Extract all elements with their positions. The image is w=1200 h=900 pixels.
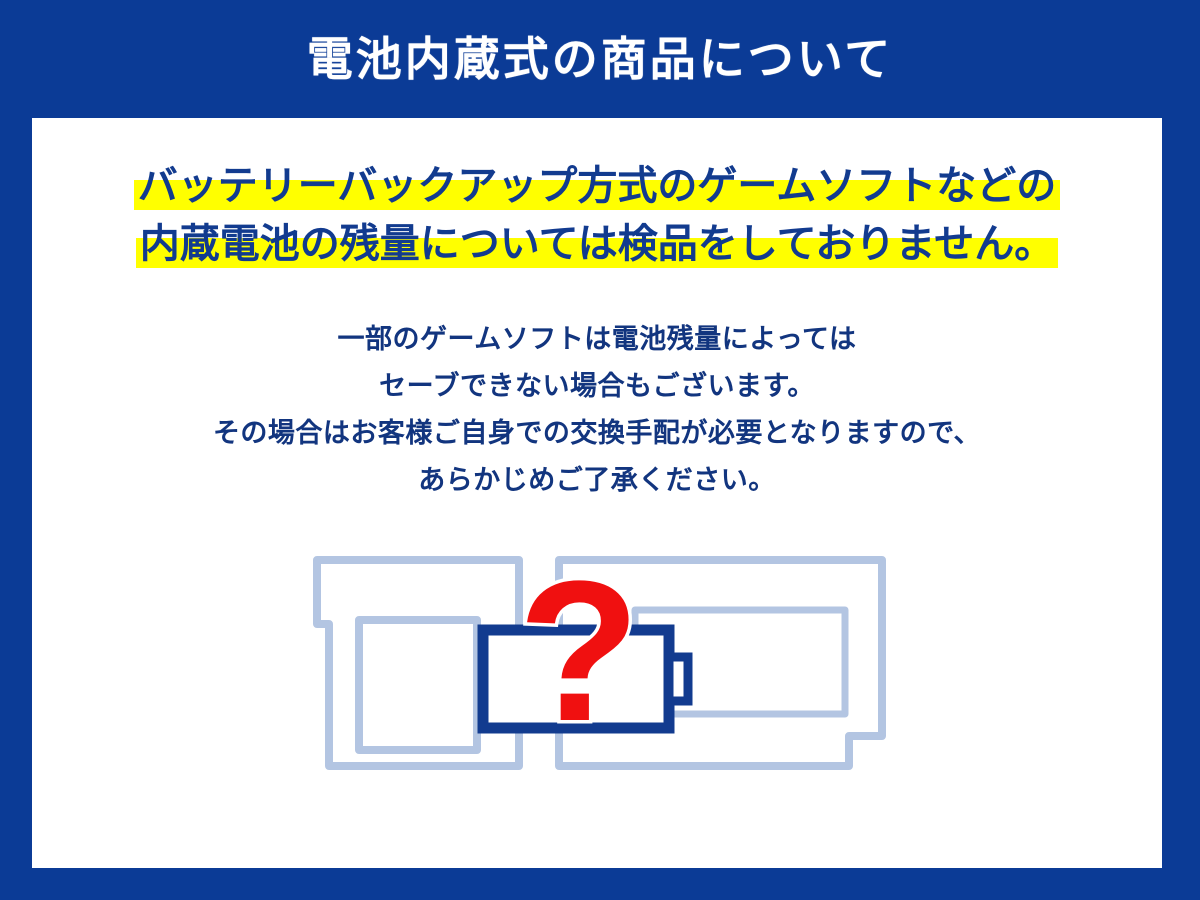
- question-mark-glyph: ?: [518, 540, 640, 763]
- body-line: 一部のゲームソフトは電池残量によっては: [32, 316, 1162, 363]
- header-banner: 電池内蔵式の商品について: [0, 0, 1200, 118]
- page-title: 電池内蔵式の商品について: [307, 36, 894, 82]
- lead-line-text: バッテリーバックアップ方式のゲームソフトなどの: [138, 164, 1056, 208]
- lead-line: バッテリーバックアップ方式のゲームソフトなどの: [134, 166, 1060, 206]
- body-line: セーブできない場合もございます。: [32, 363, 1162, 410]
- lead-line-text: 内蔵電池の残量については検品をしておりません。: [140, 222, 1054, 266]
- body-line: あらかじめご了承ください。: [32, 457, 1162, 504]
- question-mark-icon: ?: [518, 540, 640, 763]
- illustration-svg: ?: [287, 538, 907, 778]
- body-line: その場合はお客様ご自身での交換手配が必要となりますので、: [32, 410, 1162, 457]
- slide-root: 電池内蔵式の商品について バッテリーバックアップ方式のゲームソフトなどの 内蔵電…: [0, 0, 1200, 900]
- body-paragraph: 一部のゲームソフトは電池残量によっては セーブできない場合もございます。 その場…: [32, 316, 1162, 504]
- illustration: ?: [32, 538, 1162, 788]
- content-card: バッテリーバックアップ方式のゲームソフトなどの 内蔵電池の残量については検品をし…: [32, 118, 1162, 868]
- lead-block: バッテリーバックアップ方式のゲームソフトなどの 内蔵電池の残量については検品をし…: [32, 166, 1162, 282]
- lead-line: 内蔵電池の残量については検品をしておりません。: [136, 224, 1058, 264]
